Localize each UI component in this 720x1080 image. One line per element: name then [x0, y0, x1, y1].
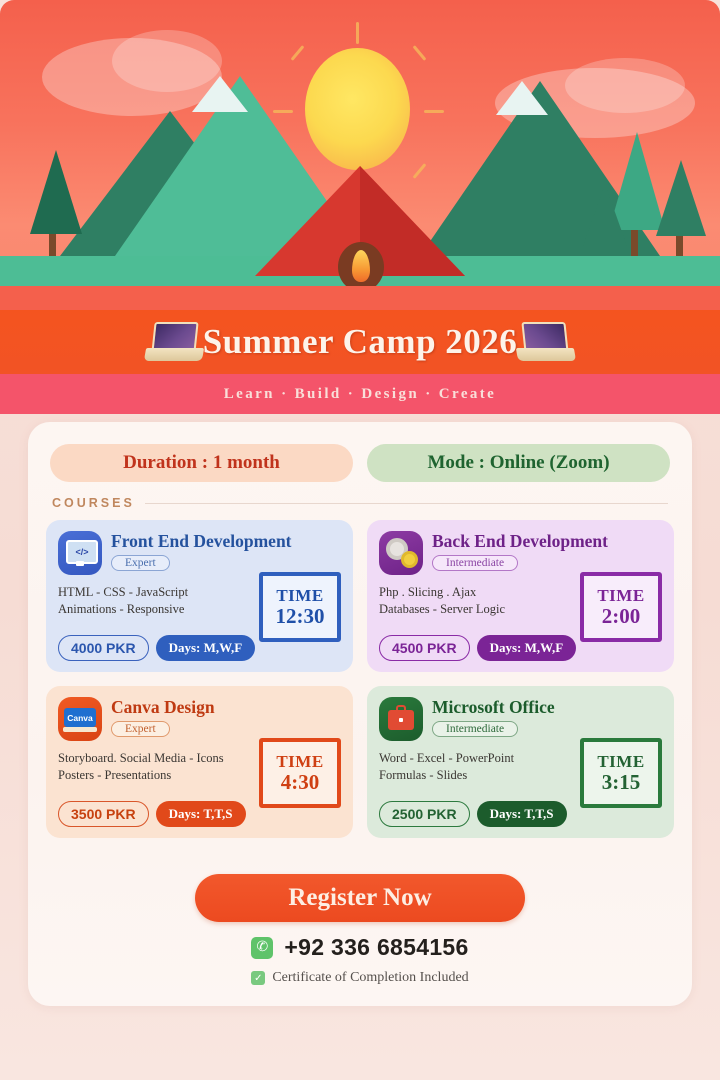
course-title: Front End Development: [111, 531, 341, 551]
divider: [145, 503, 668, 504]
price-badge: 4500 PKR: [379, 635, 470, 661]
course-badges: 4000 PKR Days: M,W,F: [58, 635, 255, 661]
page-title: Summer Camp 2026: [203, 322, 518, 362]
laptop-icon: [517, 322, 575, 362]
sun-ray: [413, 45, 427, 61]
level-badge: Intermediate: [432, 721, 518, 737]
time-box: TIME 12:30: [259, 572, 341, 642]
code-monitor-icon: </>: [58, 531, 102, 575]
snow-cap: [496, 78, 548, 115]
days-badge: Days: M,W,F: [477, 635, 577, 661]
canva-app-icon: Canva: [58, 697, 102, 741]
course-badges: 2500 PKR Days: T,T,S: [379, 801, 567, 827]
time-value: 12:30: [276, 606, 325, 627]
days-badge: Days: T,T,S: [156, 801, 246, 827]
check-icon: ✓: [251, 971, 265, 985]
certificate-row: ✓ Certificate of Completion Included: [28, 970, 692, 986]
time-value: 3:15: [602, 772, 641, 793]
courses-heading-row: COURSES: [28, 482, 692, 510]
hero-illustration: [0, 0, 720, 312]
tree-icon: [30, 147, 82, 234]
course-title: Canva Design: [111, 697, 341, 717]
tree-icon: [656, 157, 706, 236]
course-card-back-end[interactable]: Back End Development Intermediate Php . …: [367, 520, 674, 672]
course-badges: 3500 PKR Days: T,T,S: [58, 801, 246, 827]
whatsapp-icon[interactable]: ✆: [251, 937, 273, 959]
price-badge: 4000 PKR: [58, 635, 149, 661]
time-value: 2:00: [602, 606, 641, 627]
phone-number: +92 336 6854156: [284, 934, 468, 961]
time-label: TIME: [276, 753, 323, 770]
course-description: Word - Excel - PowerPoint Formulas - Sli…: [379, 750, 584, 784]
time-box: TIME 2:00: [580, 572, 662, 642]
canva-logo: Canva: [64, 708, 96, 727]
gears-icon: [379, 531, 423, 575]
course-card-canva[interactable]: Canva Canva Design Expert Storyboard. So…: [46, 686, 353, 838]
laptop-icon: [145, 322, 203, 362]
time-label: TIME: [597, 753, 644, 770]
days-badge: Days: M,W,F: [156, 635, 256, 661]
time-box: TIME 3:15: [580, 738, 662, 808]
time-value: 4:30: [281, 772, 320, 793]
level-badge: Expert: [111, 555, 170, 571]
level-badge: Intermediate: [432, 555, 518, 571]
days-badge: Days: T,T,S: [477, 801, 567, 827]
time-label: TIME: [276, 587, 323, 604]
briefcase-icon: [379, 697, 423, 741]
course-description: Php . Slicing . Ajax Databases - Server …: [379, 584, 584, 618]
courses-label: COURSES: [52, 496, 135, 510]
course-description: Storyboard. Social Media - Icons Posters…: [58, 750, 263, 784]
title-band: Summer Camp 2026: [0, 310, 720, 374]
tagline-band: Learn · Build · Design · Create: [0, 374, 720, 414]
poster-root: Summer Camp 2026 Learn · Build · Design …: [0, 0, 720, 1080]
course-title: Microsoft Office: [432, 697, 662, 717]
info-pill-row: Duration : 1 month Mode : Online (Zoom): [28, 422, 692, 482]
time-box: TIME 4:30: [259, 738, 341, 808]
snow-cap: [192, 73, 248, 112]
course-title: Back End Development: [432, 531, 662, 551]
price-badge: 3500 PKR: [58, 801, 149, 827]
content-sheet: Duration : 1 month Mode : Online (Zoom) …: [28, 422, 692, 1006]
courses-grid: </> Front End Development Expert HTML - …: [28, 510, 692, 838]
foreground-band: [0, 286, 720, 312]
duration-pill: Duration : 1 month: [50, 444, 353, 482]
sun-ray: [356, 22, 359, 44]
level-badge: Expert: [111, 721, 170, 737]
sun-ray: [291, 45, 305, 61]
time-label: TIME: [597, 587, 644, 604]
phone-row[interactable]: ✆ +92 336 6854156: [28, 934, 692, 961]
course-badges: 4500 PKR Days: M,W,F: [379, 635, 576, 661]
price-badge: 2500 PKR: [379, 801, 470, 827]
course-description: HTML - CSS - JavaScript Animations - Res…: [58, 584, 263, 618]
certificate-text: Certificate of Completion Included: [272, 970, 468, 986]
tagline: Learn · Build · Design · Create: [224, 386, 496, 403]
course-card-ms-office[interactable]: Microsoft Office Intermediate Word - Exc…: [367, 686, 674, 838]
course-card-front-end[interactable]: </> Front End Development Expert HTML - …: [46, 520, 353, 672]
register-button[interactable]: Register Now: [195, 874, 525, 922]
tree-icon: [583, 181, 627, 246]
mode-pill: Mode : Online (Zoom): [367, 444, 670, 482]
